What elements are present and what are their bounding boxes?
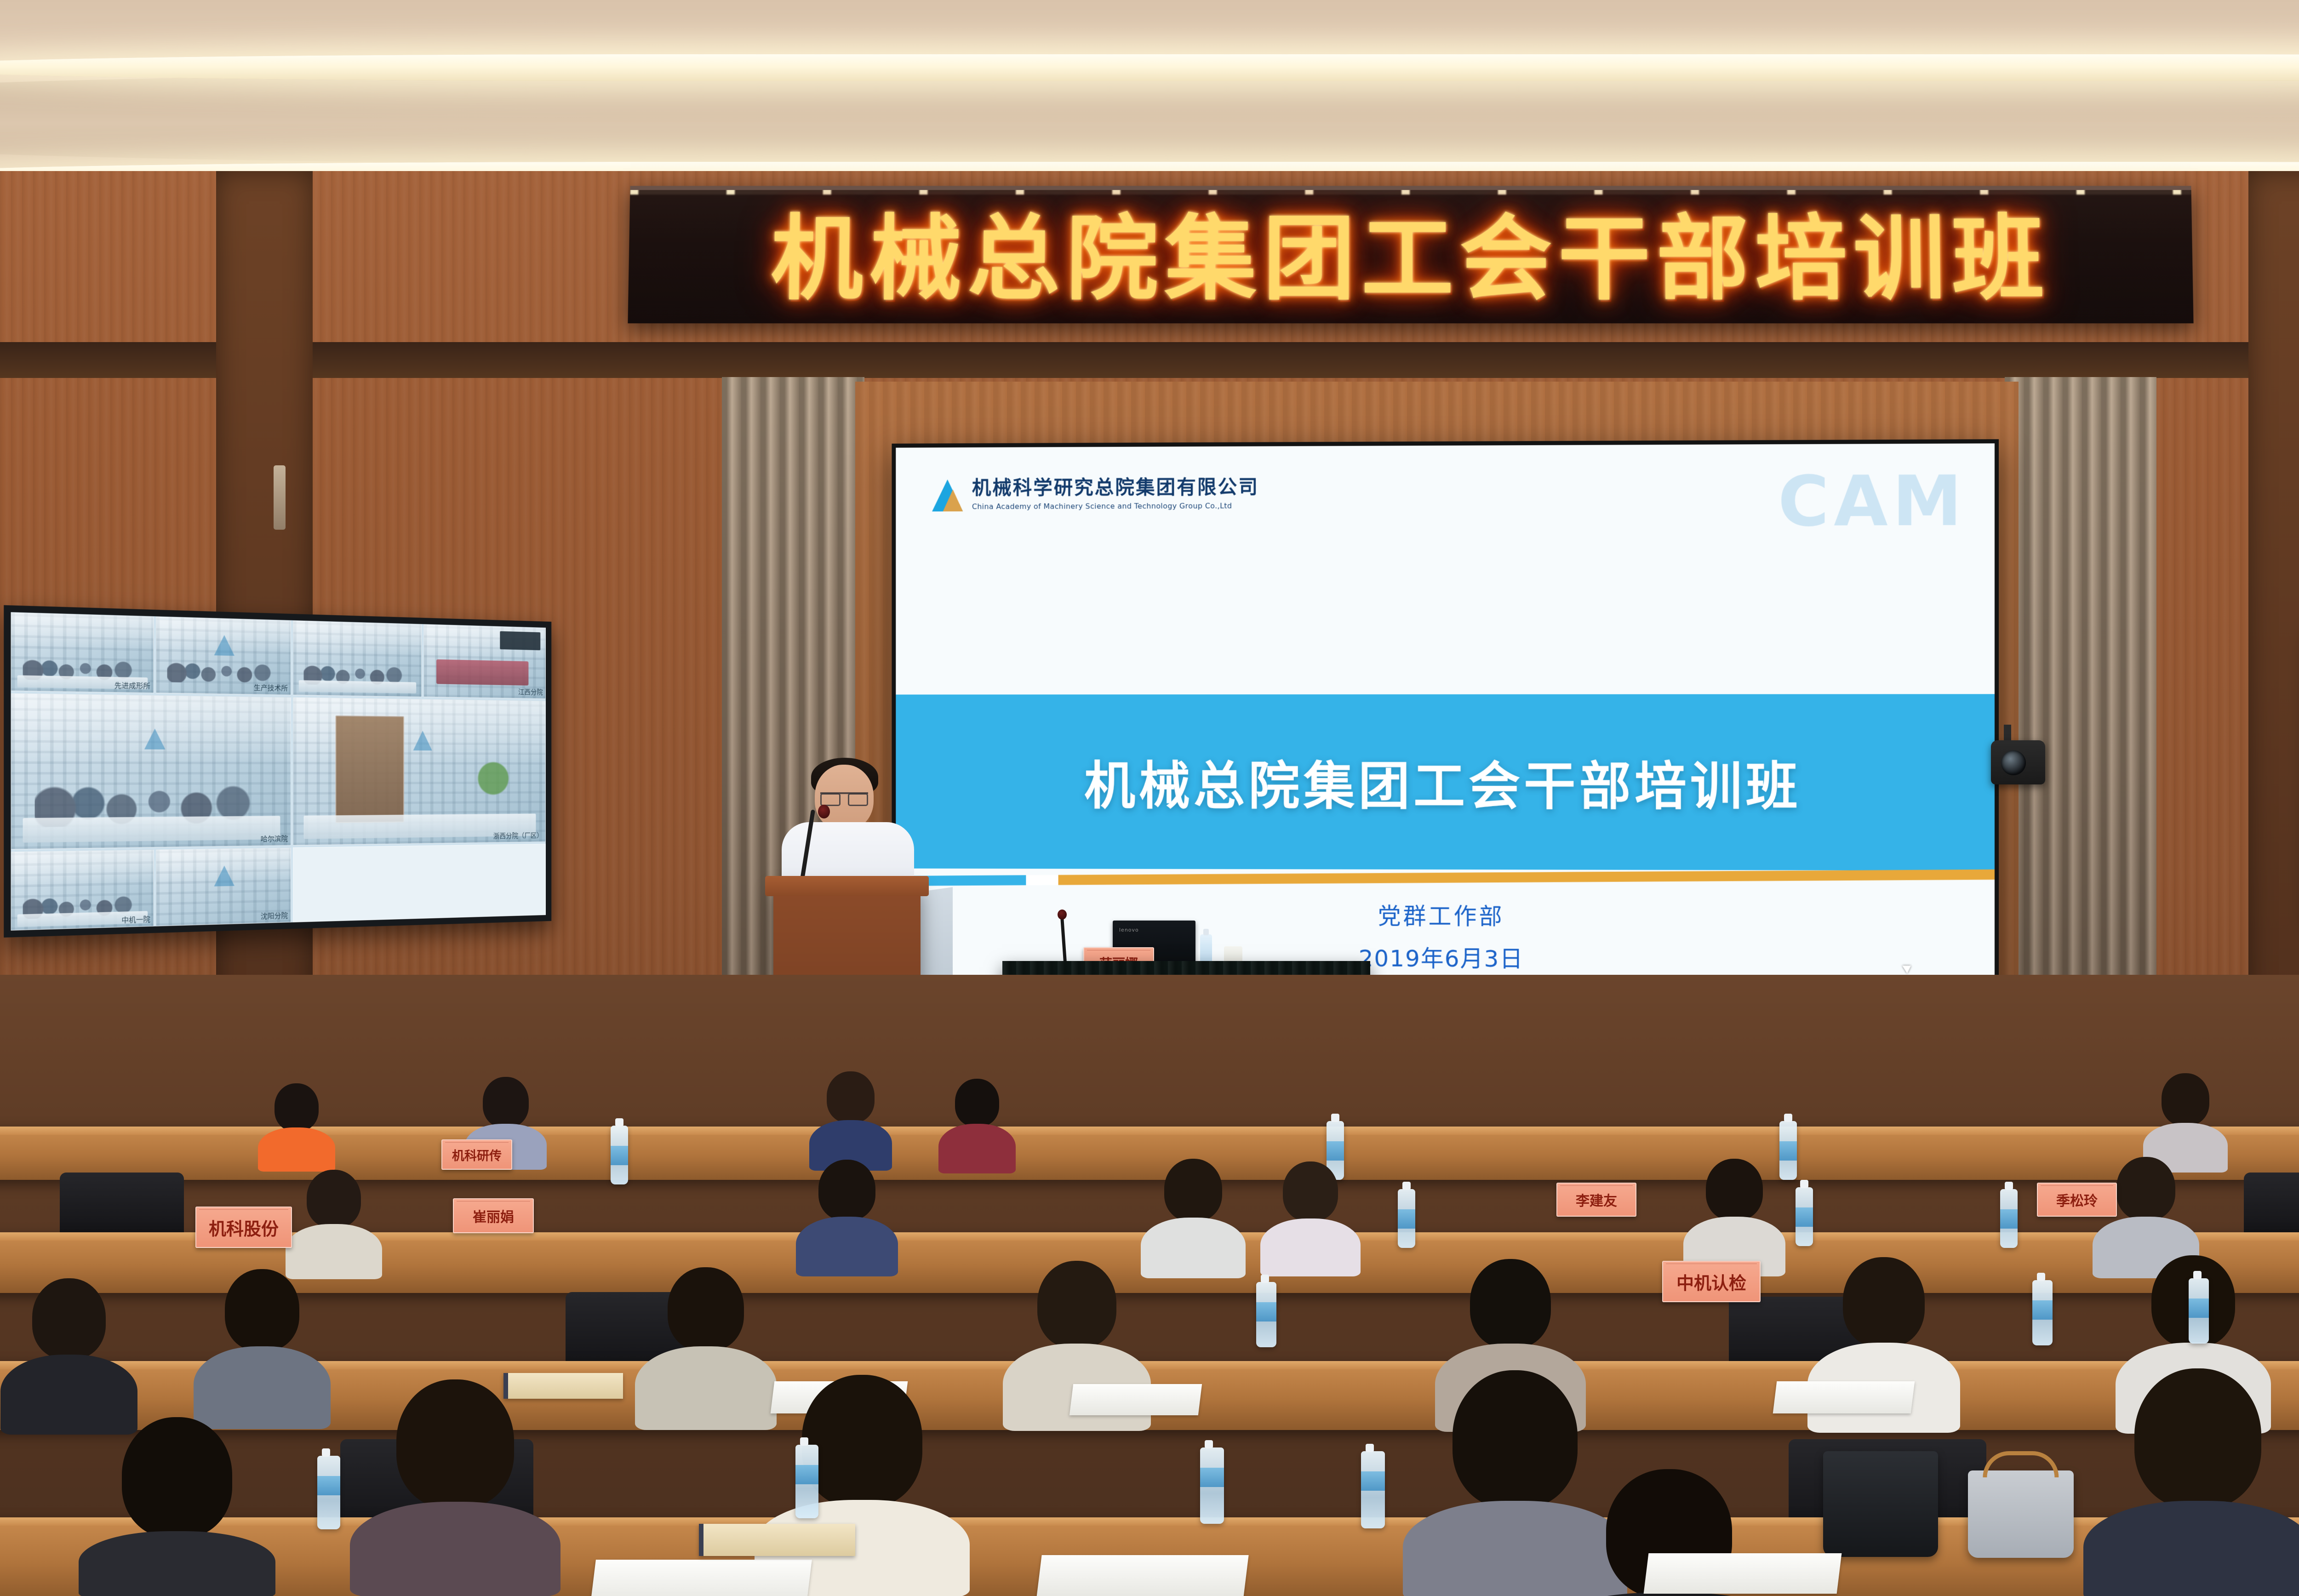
name-card: 机科研传 bbox=[441, 1139, 512, 1170]
wall-soffit bbox=[0, 342, 2299, 378]
video-tile: 中机一院 bbox=[11, 850, 154, 931]
ptz-camera-icon bbox=[1991, 740, 2045, 784]
speaker-glasses-icon bbox=[820, 792, 868, 804]
chair-back bbox=[60, 1173, 184, 1241]
slide-title: 机械总院集团工会干部培训班 bbox=[896, 694, 1995, 871]
handbag-dark bbox=[1823, 1451, 1938, 1557]
video-tile: 生产技术所 bbox=[155, 616, 291, 695]
video-tile: 哈尔滨院 bbox=[11, 693, 292, 850]
audience-person bbox=[349, 1379, 561, 1596]
paper-sheet bbox=[1773, 1381, 1915, 1413]
water-bottle bbox=[1796, 1187, 1813, 1246]
paper-sheet bbox=[590, 1560, 812, 1596]
water-bottle bbox=[2000, 1189, 2018, 1248]
handbag-light bbox=[1968, 1470, 2074, 1558]
audience-person bbox=[809, 1071, 892, 1168]
company-name-en: China Academy of Machinery Science and T… bbox=[972, 501, 1259, 511]
name-card-text: 机科股份 bbox=[209, 1215, 279, 1240]
name-card-text: 季松玲 bbox=[2056, 1190, 2098, 1210]
video-tile: 沈阳分院 bbox=[155, 847, 291, 926]
paper-sheet bbox=[1036, 1555, 1248, 1596]
name-card-text: 崔丽娟 bbox=[473, 1206, 514, 1226]
laptop-brand-label: lenovo bbox=[1119, 927, 1139, 933]
audience-area: 机科研传 机电所 bbox=[0, 975, 2299, 1596]
video-tile-label: 哈尔滨院 bbox=[261, 834, 288, 844]
video-tile-label: 江西分院 bbox=[518, 687, 543, 697]
ceiling-band bbox=[0, 69, 2299, 168]
cam-watermark: CAM bbox=[1778, 461, 1967, 542]
video-tile-label: 先进成形所 bbox=[114, 680, 150, 691]
name-card-text: 李建友 bbox=[1576, 1190, 1617, 1210]
wall-sconce bbox=[274, 465, 286, 530]
name-card: 李建友 bbox=[1556, 1183, 1636, 1217]
video-tile-label: 浙西分院（厂区） bbox=[493, 831, 543, 841]
audience-person bbox=[2143, 1073, 2228, 1170]
water-bottle bbox=[1256, 1282, 1276, 1347]
water-bottle bbox=[1398, 1189, 1415, 1248]
notebook bbox=[699, 1524, 855, 1556]
water-bottle bbox=[2032, 1280, 2053, 1345]
name-card: 机科股份 bbox=[195, 1207, 292, 1248]
water-bottle bbox=[1361, 1451, 1385, 1528]
company-name-cn: 机械科学研究总院集团有限公司 bbox=[972, 476, 1259, 498]
video-wall-left-grid: 先进成形所 生产技术所 江西分院 哈尔滨院 浙西分院（厂区） 中机一院 沈阳分院 bbox=[11, 612, 546, 930]
bag-handle bbox=[1983, 1451, 2059, 1477]
audience-person bbox=[257, 1083, 336, 1166]
slide-divider-rule bbox=[896, 870, 1995, 886]
audience-person bbox=[285, 1170, 383, 1276]
av-table-microphone-head bbox=[1058, 910, 1067, 920]
water-bottle bbox=[2189, 1278, 2209, 1344]
audience-person bbox=[1683, 1159, 1786, 1276]
audience-person bbox=[78, 1417, 276, 1596]
video-tile-empty bbox=[293, 844, 546, 922]
name-card: 崔丽娟 bbox=[453, 1198, 534, 1233]
led-banner: 机械总院集团工会干部培训班 bbox=[628, 186, 2193, 323]
name-card: 季松玲 bbox=[2037, 1183, 2117, 1217]
name-card-text: 机科研传 bbox=[452, 1146, 502, 1164]
video-tile-label: 沈阳分院 bbox=[261, 910, 288, 921]
name-card: 中机认检 bbox=[1662, 1261, 1761, 1302]
podium-top bbox=[765, 876, 929, 896]
audience-person bbox=[1260, 1161, 1361, 1275]
water-bottle bbox=[317, 1456, 340, 1529]
ceiling bbox=[0, 0, 2299, 184]
video-tile: 浙西分院（厂区） bbox=[293, 697, 546, 846]
video-tile-label: 生产技术所 bbox=[254, 682, 288, 692]
conference-room-photo: 机械总院集团工会干部培训班 CAM 机械科学研究总院集团有限公司 China A… bbox=[0, 0, 2299, 1596]
video-tile: 江西分院 bbox=[423, 624, 546, 699]
presentation-slide: CAM 机械科学研究总院集团有限公司 China Academy of Mach… bbox=[896, 443, 1995, 1013]
banner-light-strip bbox=[630, 186, 2191, 194]
water-bottle bbox=[611, 1126, 628, 1184]
video-wall-left: 先进成形所 生产技术所 江西分院 哈尔滨院 浙西分院（厂区） 中机一院 沈阳分院 bbox=[4, 605, 551, 938]
water-bottle bbox=[795, 1445, 818, 1518]
name-card-text: 中机认检 bbox=[1676, 1269, 1746, 1294]
paper-sheet bbox=[1644, 1553, 1842, 1594]
stage-curtain-right bbox=[2005, 377, 2156, 1067]
audience-person bbox=[0, 1278, 138, 1430]
audience-person bbox=[193, 1269, 331, 1425]
video-tile-label: 中机一院 bbox=[121, 914, 150, 925]
audience-person bbox=[2083, 1368, 2299, 1596]
chair-back bbox=[2244, 1173, 2299, 1241]
audience-person bbox=[795, 1160, 898, 1275]
audience-person bbox=[938, 1079, 1016, 1171]
video-tile bbox=[293, 620, 422, 697]
water-bottle bbox=[1200, 1447, 1224, 1524]
ceiling-light-cove-upper bbox=[0, 54, 2299, 81]
video-tile: 先进成形所 bbox=[11, 612, 154, 693]
audience-person bbox=[1140, 1159, 1246, 1276]
projection-screen: CAM 机械科学研究总院集团有限公司 China Academy of Mach… bbox=[892, 439, 1999, 1018]
banner-title-text: 机械总院集团工会干部培训班 bbox=[770, 213, 2051, 305]
triangle-logo-icon bbox=[929, 478, 965, 514]
company-logo: 机械科学研究总院集团有限公司 China Academy of Machiner… bbox=[929, 476, 1259, 513]
podium-microphone-head bbox=[818, 805, 830, 818]
paper-sheet bbox=[1069, 1384, 1202, 1415]
